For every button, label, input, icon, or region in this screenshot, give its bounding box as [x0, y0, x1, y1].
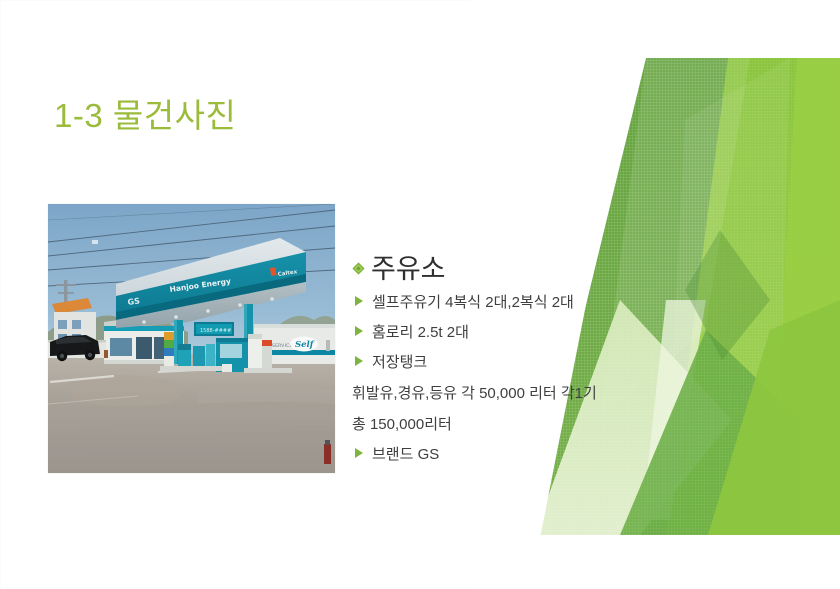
list-item-label: 셀프주유기 4복식 2대,2복식 2대	[372, 292, 574, 314]
page-title: 1-3 물건사진	[54, 96, 236, 136]
property-photo: SERVICE Self	[48, 204, 335, 473]
list-item-label: 저장탱크	[372, 352, 427, 374]
list-item-label: 홈로리 2.5t 2대	[372, 322, 469, 344]
triangle-bullet-icon	[355, 296, 363, 306]
slide-canvas: 1-3 물건사진	[0, 0, 840, 589]
list-item-plain: 총 150,000리터	[352, 413, 652, 436]
facet-diamond-icon	[352, 262, 365, 280]
triangle-bullet-icon	[355, 356, 363, 366]
section-heading-label: 주유소	[371, 252, 446, 286]
list-item: 홈로리 2.5t 2대	[355, 322, 652, 344]
section-heading: 주유소	[352, 252, 652, 286]
property-details-block: 주유소 셀프주유기 4복식 2대,2복식 2대 홈로리 2.5t 2대 저장탱크…	[352, 252, 652, 474]
list-item-label: 휘발유,경유,등유 각 50,000 리터 각1기	[352, 382, 597, 405]
list-item: 셀프주유기 4복식 2대,2복식 2대	[355, 292, 652, 314]
list-item-label: 브랜드 GS	[372, 444, 439, 466]
triangle-bullet-icon	[355, 448, 363, 458]
triangle-bullet-icon	[355, 326, 363, 336]
list-item: 브랜드 GS	[355, 444, 652, 466]
detail-list: 셀프주유기 4복식 2대,2복식 2대 홈로리 2.5t 2대 저장탱크 휘발유…	[352, 292, 652, 466]
list-item: 저장탱크	[355, 352, 652, 374]
list-item-plain: 휘발유,경유,등유 각 50,000 리터 각1기	[352, 382, 652, 405]
list-item-label: 총 150,000리터	[352, 413, 452, 436]
